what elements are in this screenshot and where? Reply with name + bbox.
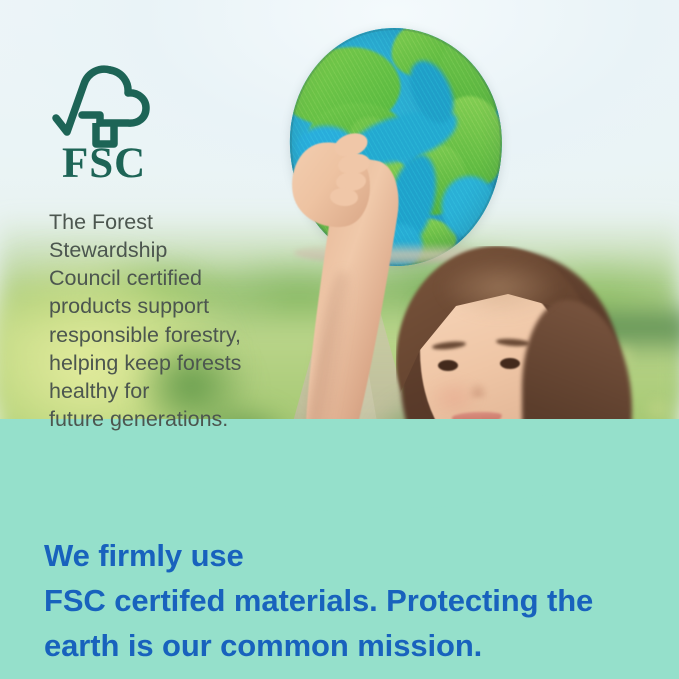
eye [438,360,458,371]
body-line: helping keep forests [49,349,289,377]
nose [468,382,488,398]
fsc-tree-checkmark-icon [52,62,202,148]
body-copy: The Forest Stewardship Council certified… [49,208,289,433]
body-line: future generations. [49,405,289,433]
body-line: products support [49,292,289,320]
body-line: healthy for [49,377,289,405]
body-line: Stewardship [49,236,289,264]
body-line: responsible forestry, [49,321,289,349]
headline-line: FSC certifed materials. Protecting the [44,579,644,624]
fsc-wordmark: FSC [62,142,146,185]
headline-line: We firmly use [44,534,644,579]
eye [500,358,520,369]
hair-highlight [440,258,560,318]
body-line: The Forest [49,208,289,236]
headline-line: earth is our common mission. [44,624,644,669]
body-line: Council certified [49,264,289,292]
fsc-promo-poster: FSC The Forest Stewardship Council certi… [0,0,679,679]
fsc-logo: FSC [52,62,202,190]
headline: We firmly use FSC certifed materials. Pr… [44,534,644,669]
